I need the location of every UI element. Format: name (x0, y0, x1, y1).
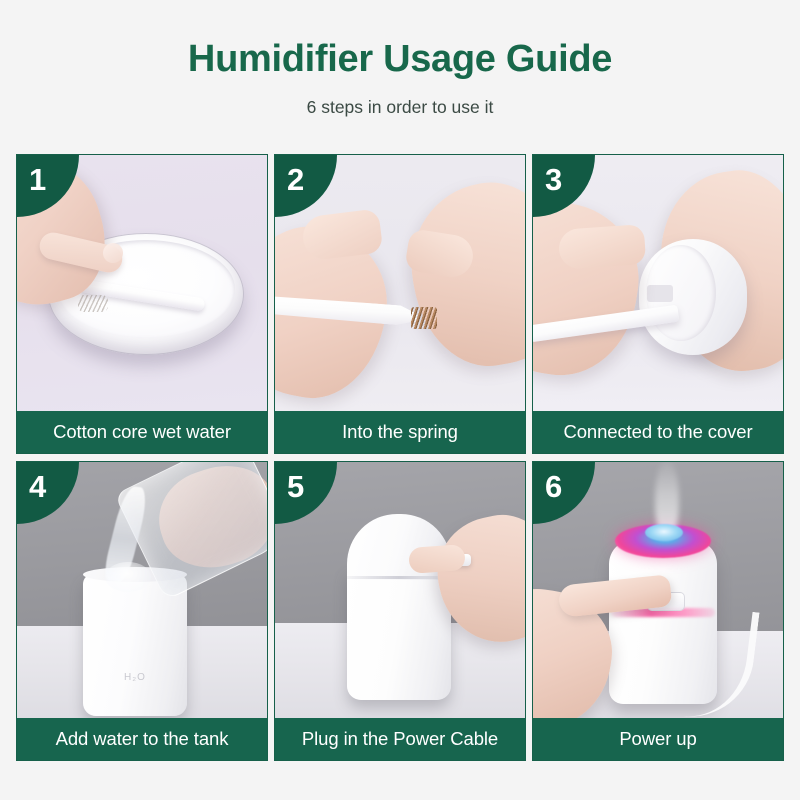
spring-coil (411, 307, 437, 329)
page-subtitle: 6 steps in order to use it (0, 97, 800, 118)
step-number-4: 4 (29, 471, 46, 502)
step-card-3[interactable]: 3 Connected to the cover (532, 154, 784, 454)
step-card-4[interactable]: H₂O 4 Add water to the tank (16, 461, 268, 761)
step-caption-4: Add water to the tank (17, 718, 267, 760)
fingernail (103, 243, 123, 263)
spring-coil (78, 295, 108, 312)
left-hand (533, 192, 650, 386)
step-photo-6: 6 (533, 462, 783, 718)
step-photo-1: 1 (17, 155, 267, 411)
step-photo-5: 5 (275, 462, 525, 718)
led-core (645, 524, 683, 541)
humidifier-body (347, 568, 451, 700)
infographic-page: Humidifier Usage Guide 6 steps in order … (0, 0, 800, 800)
left-hand-finger (558, 224, 647, 270)
step-number-1: 1 (29, 164, 46, 195)
finger (408, 544, 466, 574)
step-photo-3: 3 (533, 155, 783, 411)
step-caption-3: Connected to the cover (533, 411, 783, 453)
step-caption-6: Power up (533, 718, 783, 760)
water-splash (105, 562, 151, 592)
step-photo-2: 2 (275, 155, 525, 411)
step-caption-1: Cotton core wet water (17, 411, 267, 453)
step-number-6: 6 (545, 471, 562, 502)
step-card-5[interactable]: 5 Plug in the Power Cable (274, 461, 526, 761)
step-card-2[interactable]: 2 Into the spring (274, 154, 526, 454)
step-caption-2: Into the spring (275, 411, 525, 453)
tank-label: H₂O (83, 672, 187, 683)
steps-grid: 1 Cotton core wet water 2 Into (16, 154, 784, 761)
step-card-6[interactable]: 6 Power up (532, 461, 784, 761)
step-caption-5: Plug in the Power Cable (275, 718, 525, 760)
step-card-1[interactable]: 1 Cotton core wet water (16, 154, 268, 454)
step-number-5: 5 (287, 471, 304, 502)
page-title: Humidifier Usage Guide (0, 40, 800, 80)
header: Humidifier Usage Guide 6 steps in order … (0, 0, 800, 118)
humidifier-cover (639, 239, 747, 355)
left-hand-finger (301, 208, 384, 261)
step-number-2: 2 (287, 164, 304, 195)
step-photo-4: H₂O 4 (17, 462, 267, 718)
body-seam (347, 576, 451, 579)
step-number-3: 3 (545, 164, 562, 195)
